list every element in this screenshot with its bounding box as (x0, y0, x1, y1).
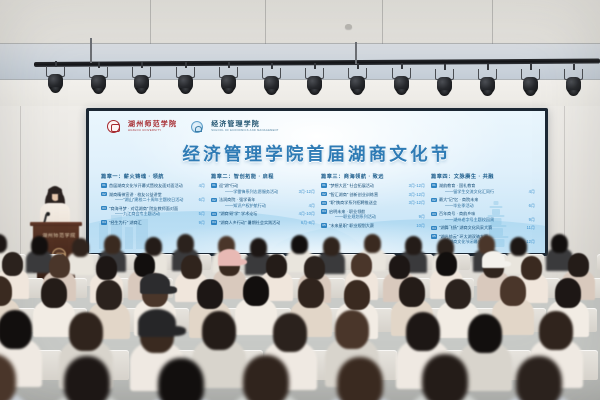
program-item-title: "梦想大匠" 社会拓展活动 (329, 183, 374, 189)
program-item-date: 11月 (527, 225, 535, 231)
program-item: 03"职"携商学系列招聘推送会3月-12月 (321, 200, 425, 206)
program-item-body: "湖舞飞扬" 湖商文化风采大赛11月 (439, 225, 535, 231)
program-item-title: "湖商'研'学" 学术论坛 (219, 211, 257, 217)
audience-head (243, 276, 269, 306)
program-item-subtitle: ——学雷锋系列志愿服务活动 (219, 189, 278, 195)
school-emblem-icon (191, 121, 203, 133)
program-item-body: "湖商'研'学" 学术论坛4月-10月 (219, 211, 315, 217)
audience-head (304, 256, 325, 280)
program-item-number: 02 (101, 192, 107, 196)
program-item-date: 3月-12月 (299, 189, 315, 195)
program-item: 01"梦想大匠" 社会拓展活动3月-12月 (321, 183, 425, 189)
program-item: 03"商海寻梦 · 对话湖商" 院友教师面对面——九江商会专主题活动5月 (101, 206, 205, 218)
ceiling-panel-seam (382, 0, 383, 44)
program-item-body: 百年商号 · 商韵乡味——湖州老字号主题校园周9月 (439, 211, 535, 223)
school-logo-text: 经济管理学院 SCHOOL OF ECONOMICS AND MANAGEMEN… (211, 121, 278, 131)
program-item-number: 04 (101, 220, 107, 224)
audience-head (181, 255, 202, 279)
program-item-number: 02 (211, 198, 217, 202)
program-item-body: 法润商院 · 强学青年——知识产权护航行动4月 (219, 197, 315, 209)
audience-head (202, 311, 236, 350)
speaker-hair-front (48, 187, 62, 194)
audience-head (104, 235, 121, 254)
audience-head (197, 279, 223, 309)
program-item-date: 9月 (529, 217, 535, 223)
auditorium-seat (597, 254, 600, 270)
truss-hanger (90, 38, 92, 63)
audience-head (158, 358, 204, 400)
audience-head (72, 238, 89, 257)
university-logo-text: 湖州师范学院 HUZHOU UNIVERSITY (128, 121, 177, 131)
program-item-body: "湖商人乡行动" 暑期社会实践活动6月-8月 (219, 220, 315, 226)
audience-head (177, 234, 194, 253)
audience-head (335, 310, 369, 349)
program-item-title: "智汇湖商" 创新创业训练营 (329, 192, 378, 198)
program-item-date: 6月-8月 (301, 220, 315, 226)
audience-head (49, 254, 70, 278)
audience-head (351, 253, 372, 277)
audience-head (389, 255, 410, 279)
program-item-title: 首届湖商文化节开幕式暨校友面对面活动 (109, 183, 183, 189)
program-item-subtitle: ——留学生交流文化汇同行 (439, 189, 494, 195)
program-item-subtitle: ——九江商会专主题活动 (109, 211, 160, 217)
audience-head (468, 314, 502, 353)
audience-head (243, 355, 289, 400)
ceiling-panel-seam (265, 0, 266, 44)
program-item-number: 03 (211, 212, 217, 216)
program-item-body: 湖韵教育 · 国礼教育——留学生交流文化汇同行4月 (439, 183, 535, 195)
audience-head (323, 237, 340, 256)
program-item-date: 6月 (529, 203, 535, 209)
audience-head (500, 276, 526, 306)
program-item-number: 03 (321, 201, 327, 205)
program-item-body: "未来星职" 职业规划大赛10月 (329, 223, 425, 229)
program-item-date: 10月 (416, 223, 425, 229)
program-item-date: 9月 (199, 220, 205, 226)
program-item-body: 启明未来 · 职业领航——职业规划系列活动9月 (329, 209, 425, 221)
audience-cap-brim (159, 326, 186, 336)
audience-cap-brim (156, 286, 177, 294)
university-seal-icon (107, 120, 120, 133)
program-item-date: 3月-12月 (409, 183, 425, 189)
program-item-number: 04 (211, 220, 217, 224)
audience-head (539, 311, 573, 350)
program-item-date: 6月 (199, 197, 205, 203)
lecture-hall-photo: 湖州师范学院 HUZHOU UNIVERSITY 经济管理学院 SCHOOL O… (0, 0, 600, 400)
audience (0, 232, 600, 400)
audience-head (516, 356, 562, 400)
audience-head (436, 252, 457, 276)
audience-head (266, 254, 287, 278)
program-item-number: 02 (431, 198, 437, 202)
audience-head (422, 354, 468, 400)
program-item-subtitle: ——毕业季活动 (439, 203, 474, 209)
audience-head (405, 236, 422, 255)
program-item-date: 4月 (309, 203, 315, 209)
program-item-subtitle: ——职业规划系列活动 (329, 214, 376, 220)
program-item-subtitle: ——"湖山"建校二十周年主题校日活动 (109, 197, 183, 203)
program-item-title: "未来星职" 职业规划大赛 (329, 223, 374, 229)
screen-logos: 湖州师范学院 HUZHOU UNIVERSITY 经济管理学院 SCHOOL O… (107, 120, 279, 133)
program-item: 01迎"湖"行动——学雷锋系列志愿服务活动3月-12月 (211, 183, 315, 195)
program-item-subtitle: ——知识产权护航行动 (219, 203, 266, 209)
program-item-number: 01 (321, 183, 327, 187)
program-item: 05"未来星职" 职业规划大赛10月 (321, 223, 425, 229)
program-item: 02湖商精神宣讲 · 校友公益讲堂——"湖山"建校二十周年主题校日活动6月 (101, 192, 205, 204)
program-item-number: 01 (101, 183, 107, 187)
audience-head (291, 235, 308, 254)
program-item-title: "湖商人乡行动" 暑期社会实践活动 (219, 220, 280, 226)
program-item-number: 01 (211, 183, 217, 187)
program-item-body: "梦想大匠" 社会拓展活动3月-12月 (329, 183, 425, 189)
program-item-body: "智汇湖商" 创新创业训练营3月-12月 (329, 192, 425, 198)
wall-upper (0, 80, 600, 106)
program-item: 01湖韵教育 · 国礼教育——留学生交流文化汇同行4月 (431, 183, 535, 195)
program-item: 02最大"记"忆 · 商院未来——毕业季活动6月 (431, 197, 535, 209)
audience-head (41, 278, 67, 308)
audience-head (568, 253, 589, 277)
ceiling-panel-seam (150, 0, 151, 44)
program-item-number: 04 (431, 226, 437, 230)
program-item-title: "职"携商学系列招聘推送会 (329, 200, 377, 206)
audience-head (555, 278, 581, 308)
program-item: 04启明未来 · 职业领航——职业规划系列活动9月 (321, 209, 425, 221)
audience-head (0, 310, 32, 349)
program-item: 02"智汇湖商" 创新创业训练营3月-12月 (321, 192, 425, 198)
ceiling-panel-seam (492, 0, 493, 44)
program-item-body: 最大"记"忆 · 商院未来——毕业季活动6月 (439, 197, 535, 209)
audience-head (344, 280, 370, 310)
program-item-number: 05 (321, 223, 327, 227)
audience-head (364, 234, 381, 253)
audience-head (31, 236, 48, 255)
program-item-date: 3月-12月 (409, 192, 425, 198)
microphone-icon (46, 212, 50, 216)
audience-head (250, 238, 267, 257)
program-item-date: 4月 (529, 189, 535, 195)
screen-title: 经济管理学院首届湖商文化节 (89, 141, 545, 166)
program-item-body: "职"携商学系列招聘推送会3月-12月 (329, 200, 425, 206)
audience-head (406, 312, 440, 351)
program-item-subtitle: ——湖州老字号主题校园周 (439, 217, 494, 223)
program-column-heading: 篇章三：商海领航 · 致远 (321, 173, 425, 180)
program-item: 04"湖商人乡行动" 暑期社会实践活动6月-8月 (211, 220, 315, 226)
program-item-date: 9月 (419, 214, 425, 220)
audience-head (337, 357, 383, 400)
audience-head (69, 312, 103, 351)
audience-head (2, 252, 23, 276)
program-item-body: "商海寻梦 · 对话湖商" 院友教师面对面——九江商会专主题活动5月 (109, 206, 205, 218)
program-item-date: 4月-10月 (299, 211, 315, 217)
program-item-body: 迎"湖"行动——学雷锋系列志愿服务活动3月-12月 (219, 183, 315, 195)
program-item: 03百年商号 · 商韵乡味——湖州老字号主题校园周9月 (431, 211, 535, 223)
truss-hanger (355, 42, 357, 64)
program-item-number: 01 (431, 183, 437, 187)
program-item-body: 首届湖商文化节开幕式暨校友面对面活动4月 (109, 183, 205, 189)
program-item-date: 5月 (199, 211, 205, 217)
audience-head (96, 280, 122, 310)
program-item-number: 02 (321, 192, 327, 196)
program-column-heading: 篇章四：文脉赓生 · 共融 (431, 173, 535, 180)
program-item: 04"湖舞飞扬" 湖商文化风采大赛11月 (431, 225, 535, 231)
audience-head (399, 277, 425, 307)
program-item-number: 04 (321, 209, 327, 213)
audience-head (298, 278, 324, 308)
program-item: 03"湖商'研'学" 学术论坛4月-10月 (211, 211, 315, 217)
audience-head (96, 256, 117, 280)
program-item-date: 4月 (199, 183, 205, 189)
program-column-heading: 篇章一：薪火铸魂 · 领航 (101, 173, 205, 180)
program-item: 04"经生为行" 湖商汇9月 (101, 220, 205, 226)
program-item-number: 03 (101, 206, 107, 210)
audience-head (551, 234, 568, 253)
audience-head (445, 279, 471, 309)
program-item: 02法润商院 · 强学青年——知识产权护航行动4月 (211, 197, 315, 209)
program-item-title: "经生为行" 湖商汇 (109, 220, 142, 226)
program-item-title: "湖舞飞扬" 湖商文化风采大赛 (439, 225, 492, 231)
audience-head (273, 313, 307, 352)
program-item-date: 3月-12月 (409, 200, 425, 206)
program-item-number: 03 (431, 212, 437, 216)
program-item-body: 湖商精神宣讲 · 校友公益讲堂——"湖山"建校二十周年主题校日活动6月 (109, 192, 205, 204)
program-item: 01首届湖商文化节开幕式暨校友面对面活动4月 (101, 183, 205, 189)
audience-head (521, 256, 542, 280)
program-item-body: "经生为行" 湖商汇9月 (109, 220, 205, 226)
smoke-detector-icon (345, 24, 352, 29)
audience-head (510, 237, 527, 256)
audience-head (64, 356, 110, 400)
program-column-heading: 篇章二：智创拓能 · 启程 (211, 173, 315, 180)
